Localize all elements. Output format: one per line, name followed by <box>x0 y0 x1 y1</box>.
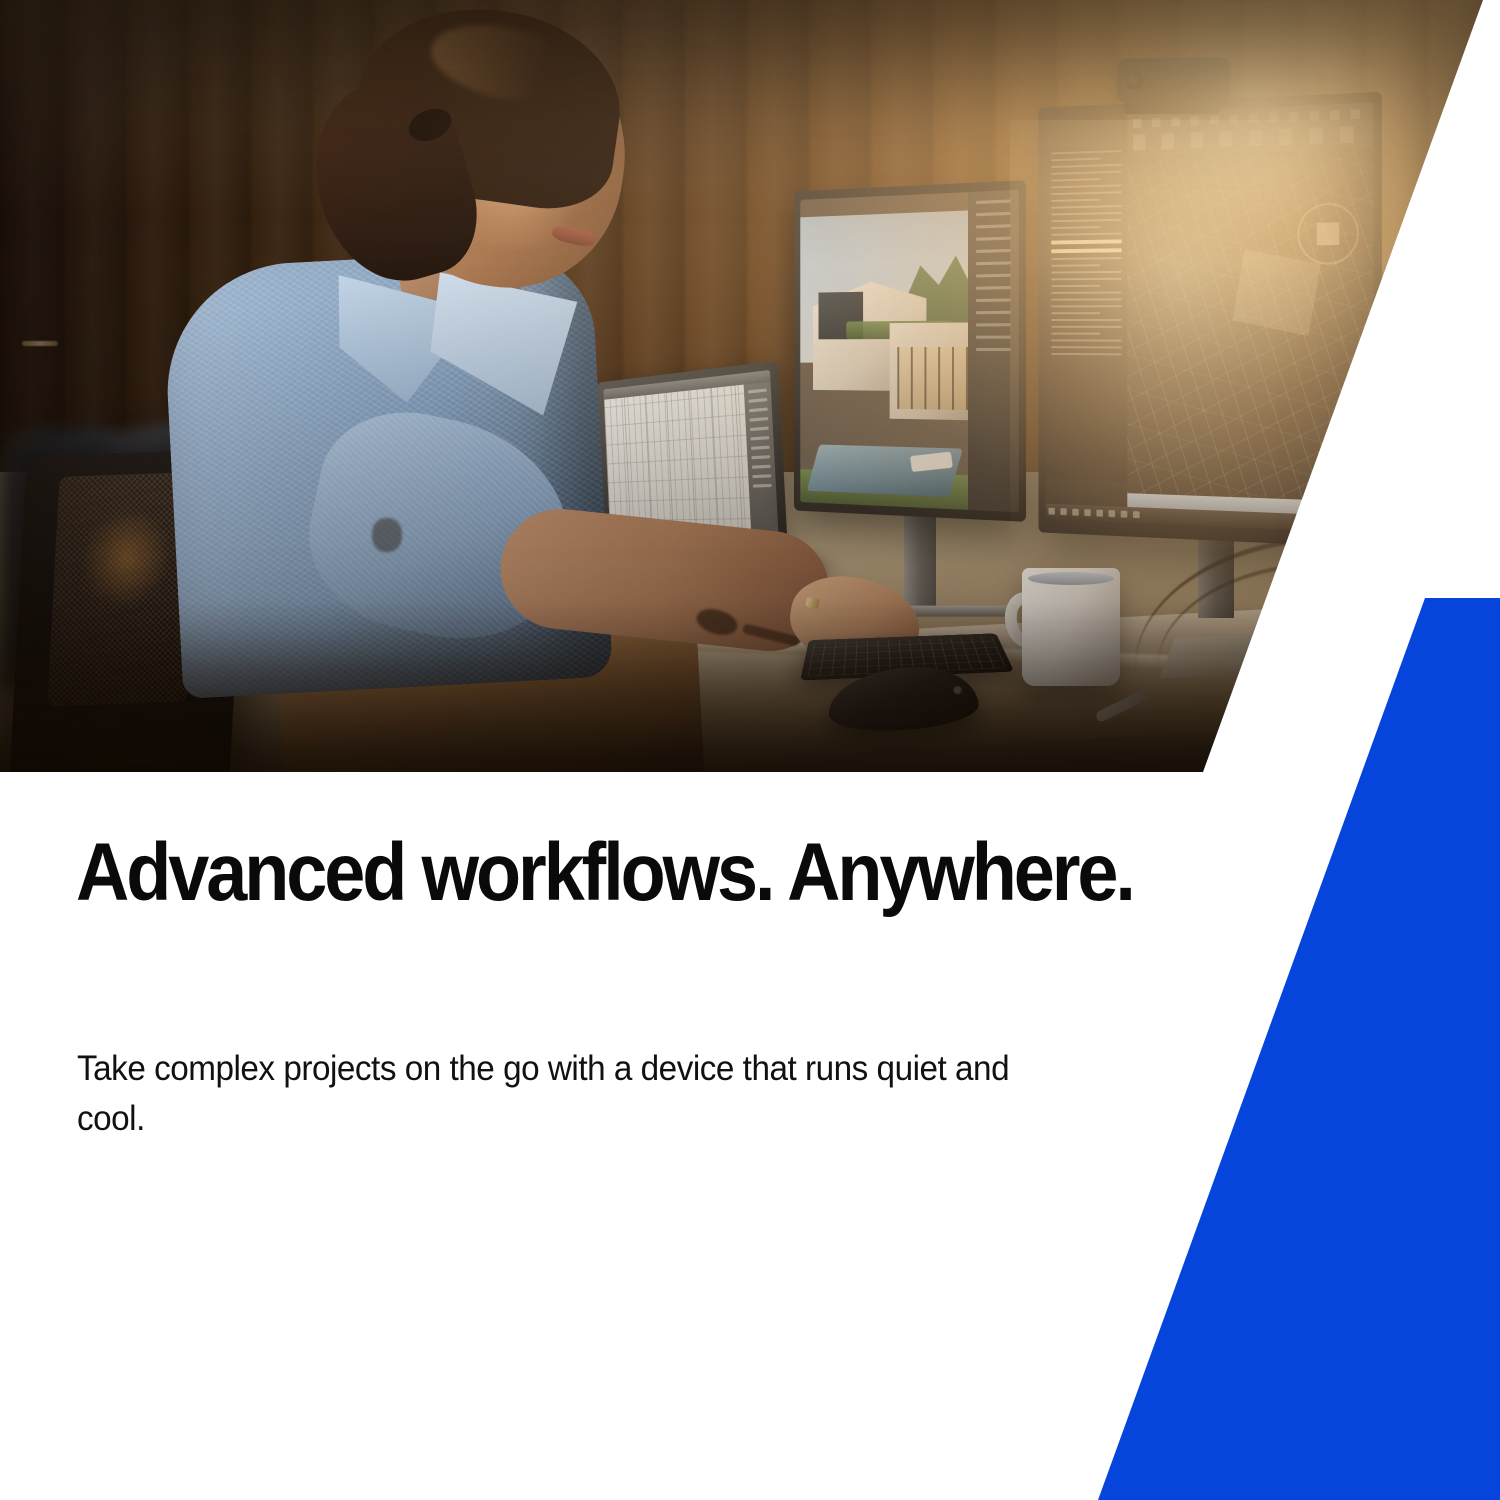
hero-photo <box>0 0 1500 772</box>
cad-site-plan <box>1127 148 1373 502</box>
monitor-right <box>1028 100 1380 540</box>
page-title: Advanced workflows. Anywhere. <box>76 832 1084 914</box>
person-tattoo-upper-arm <box>372 518 402 552</box>
monitor-left-stand <box>904 512 936 608</box>
hero-scene <box>0 0 1500 772</box>
render-app-panel <box>968 190 1019 512</box>
monitor-right-screen <box>1046 103 1374 534</box>
monitor-left-bezel <box>794 180 1026 522</box>
body-copy: Take complex projects on the go with a d… <box>77 1044 1018 1143</box>
text-content: Advanced workflows. Anywhere. Take compl… <box>0 772 1500 1500</box>
cad-highlighted-parcel <box>1233 248 1321 336</box>
door-handle <box>22 341 58 346</box>
cad-text-panel <box>1046 145 1128 481</box>
monitor-right-bezel <box>1038 92 1381 548</box>
desk-shadow <box>0 602 1500 772</box>
monitor-left <box>786 186 1026 516</box>
monitor-left-screen <box>800 190 1019 512</box>
webcam <box>1117 57 1230 105</box>
cad-view-cube <box>1297 202 1359 265</box>
promo-card: Advanced workflows. Anywhere. Take compl… <box>0 0 1500 1500</box>
